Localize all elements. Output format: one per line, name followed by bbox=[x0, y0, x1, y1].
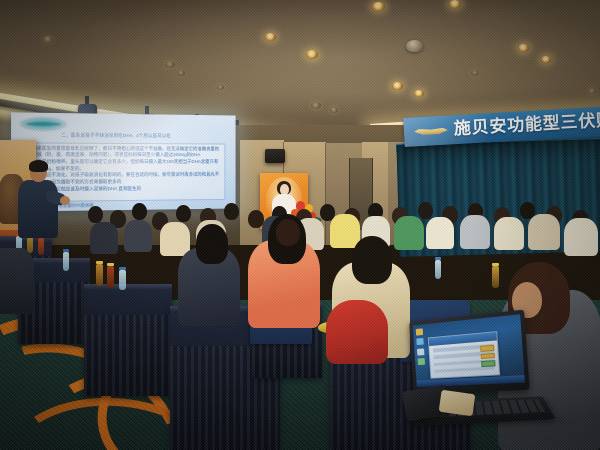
slide-bullet: 1. 如果医生的意思是母乳已经够了，那日不用担心的话这个不准确，在无法确定它的准… bbox=[26, 146, 222, 159]
smoke-detector-icon bbox=[406, 40, 423, 52]
audience-head-foreground bbox=[276, 219, 300, 246]
downlight bbox=[165, 61, 175, 68]
conference-hall-photo: 二、医生说孩子不缺注早的吃DHA, 4个月以后可以吃 1. 如果医生的意思是母乳… bbox=[0, 0, 600, 450]
slide-title: 二、医生说孩子不缺注早的吃DHA, 4个月以后可以吃 bbox=[61, 132, 226, 139]
laptop-lid bbox=[409, 310, 530, 394]
audience-torso bbox=[460, 215, 490, 249]
banquet-table bbox=[84, 284, 172, 396]
wall-seam bbox=[325, 143, 326, 245]
audience-head bbox=[176, 205, 191, 222]
audience-head bbox=[224, 203, 239, 220]
downlight bbox=[372, 2, 385, 11]
audience-head bbox=[88, 206, 103, 223]
downlight bbox=[414, 90, 424, 97]
desktop-icon[interactable] bbox=[417, 338, 424, 345]
audience-torso bbox=[394, 216, 424, 250]
audience-torso bbox=[494, 217, 524, 250]
window-button[interactable] bbox=[481, 353, 495, 360]
window-row bbox=[434, 366, 495, 373]
desktop-icon[interactable] bbox=[416, 328, 423, 335]
red-hood bbox=[326, 300, 388, 364]
bullet-text: 如果是说不消化，对孩子吸收消化有影响的，要在合适的时候，要尽量试时再多试的和且丸… bbox=[32, 172, 219, 184]
downlight bbox=[449, 0, 461, 8]
napkin bbox=[439, 390, 476, 417]
downlight bbox=[311, 102, 321, 109]
audience-torso bbox=[528, 214, 560, 250]
audience-torso bbox=[564, 218, 598, 256]
bullet-text: 如果是奶粉喂养，里头就可以确定它含有多少，但奶每日摄入最大100克相当于DHA含… bbox=[32, 159, 218, 171]
audience-head bbox=[418, 202, 433, 219]
water-bottle bbox=[119, 270, 126, 290]
downlight bbox=[217, 85, 224, 90]
audience-torso bbox=[90, 222, 118, 254]
water-bottle bbox=[63, 252, 69, 271]
desktop-icon[interactable] bbox=[418, 358, 425, 365]
downlight bbox=[541, 56, 551, 63]
downlight bbox=[265, 33, 276, 41]
audience-torso bbox=[426, 217, 454, 249]
downlight bbox=[518, 44, 529, 52]
audience-torso bbox=[330, 214, 360, 248]
audience-head bbox=[132, 203, 147, 220]
downlight bbox=[43, 36, 53, 43]
desktop-icon[interactable] bbox=[417, 348, 424, 355]
drink-bottle bbox=[492, 266, 499, 288]
presenter-hair bbox=[29, 160, 48, 172]
downlight bbox=[588, 88, 596, 94]
drink-bottle bbox=[96, 264, 103, 286]
audience-torso bbox=[124, 220, 152, 252]
audience-torso-foreground bbox=[0, 248, 34, 314]
laptop-screen[interactable] bbox=[413, 314, 525, 387]
audience-hair-foreground bbox=[352, 236, 392, 284]
drink-bottle bbox=[38, 238, 44, 255]
window-button[interactable] bbox=[480, 345, 494, 352]
downlight bbox=[471, 70, 479, 76]
presenter-hand bbox=[60, 196, 70, 205]
drink-bottle bbox=[107, 266, 114, 288]
application-window[interactable] bbox=[427, 331, 500, 378]
wall-speaker bbox=[265, 149, 285, 163]
presenter-torso bbox=[18, 180, 58, 238]
downlight bbox=[177, 70, 185, 76]
downlight bbox=[306, 50, 318, 59]
slide-logo bbox=[20, 117, 68, 132]
bullet-text: 如果医生的意思是母乳已经够了，那日不用担心的话这个不准确，在无法确定它的准确含量… bbox=[32, 146, 219, 158]
downlight bbox=[330, 107, 338, 113]
audience-hair-foreground bbox=[196, 224, 228, 264]
water-bottle bbox=[435, 260, 441, 279]
slide-bullet: 2. 如果是奶粉喂养，里头就可以确定它含有多少，但奶每日摄入最大100克相当于D… bbox=[26, 159, 222, 172]
downlight bbox=[392, 82, 403, 90]
window-button[interactable] bbox=[481, 360, 495, 367]
audience-torso bbox=[160, 222, 190, 256]
